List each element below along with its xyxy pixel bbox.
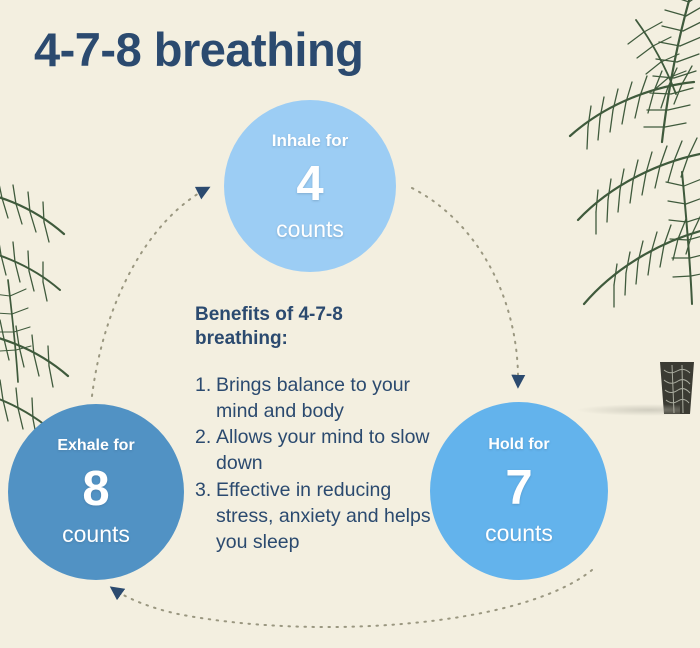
list-item-number: 1. — [195, 372, 216, 398]
stage-unit-exhale: counts — [62, 523, 130, 546]
benefits-block: Benefits of 4-7-8 breathing: 1. Brings b… — [195, 303, 440, 555]
stage-circle-hold: Hold for 7 counts — [430, 402, 608, 580]
list-item: 1. Brings balance to your mind and body — [195, 372, 440, 424]
palm-fronds-icon — [496, 0, 700, 316]
list-item-number: 2. — [195, 424, 216, 450]
stage-count-hold: 7 — [505, 464, 532, 513]
stage-label-inhale: Inhale for — [272, 132, 349, 149]
list-item-text: Allows your mind to slow down — [216, 424, 440, 476]
list-item: 2. Allows your mind to slow down — [195, 424, 440, 476]
list-item-text: Effective in reducing stress, anxiety an… — [216, 477, 440, 555]
list-item-text: Brings balance to your mind and body — [216, 372, 440, 424]
stage-count-inhale: 4 — [296, 160, 323, 209]
breathing-infographic: 4-7-8 breathing Inhale for 4 counts Hold… — [0, 0, 700, 648]
benefits-heading: Benefits of 4-7-8 breathing: — [195, 303, 440, 350]
stage-label-hold: Hold for — [488, 437, 549, 453]
benefits-list: 1. Brings balance to your mind and body … — [195, 372, 440, 555]
stage-count-exhale: 8 — [82, 465, 109, 514]
stage-circle-inhale: Inhale for 4 counts — [224, 100, 396, 272]
stage-label-exhale: Exhale for — [57, 438, 134, 454]
pot-shadow — [576, 404, 680, 416]
palm-fronds-icon — [0, 150, 150, 450]
stage-unit-hold: counts — [485, 522, 553, 545]
list-item-number: 3. — [195, 477, 216, 503]
stage-unit-inhale: counts — [276, 218, 344, 241]
stage-circle-exhale: Exhale for 8 counts — [8, 404, 184, 580]
plant-pot-icon — [654, 356, 700, 418]
list-item: 3. Effective in reducing stress, anxiety… — [195, 477, 440, 555]
page-title: 4-7-8 breathing — [34, 22, 363, 77]
arc-exhale-to-inhale — [92, 188, 208, 396]
